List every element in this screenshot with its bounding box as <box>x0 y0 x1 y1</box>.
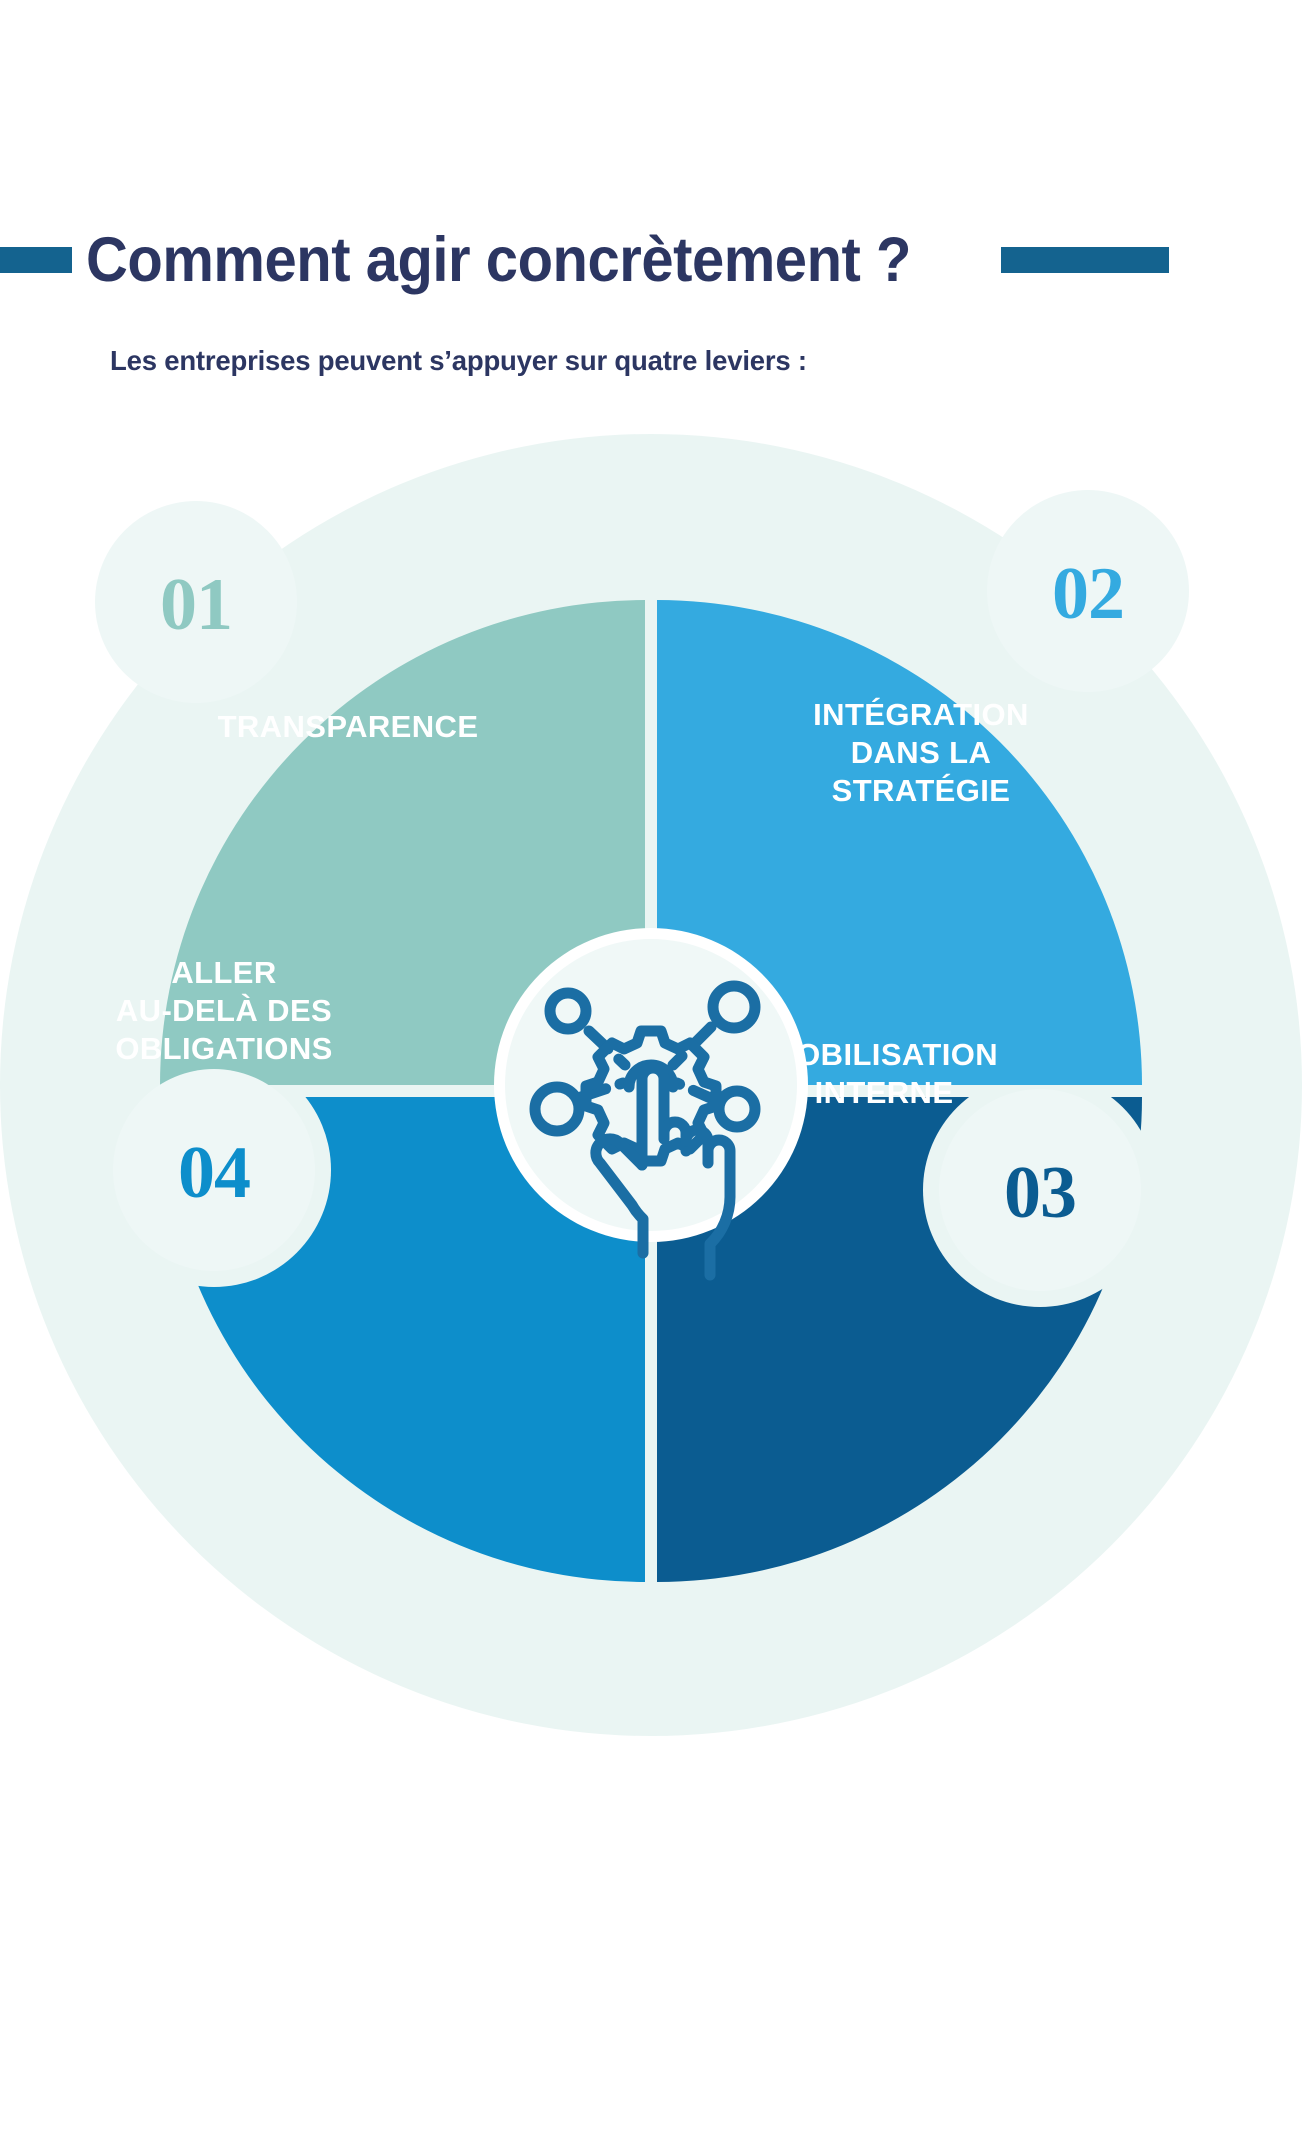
segment-02-label-line-2: STRATÉGIE <box>832 773 1011 808</box>
title-dash-left <box>0 247 72 273</box>
page-subtitle: Les entreprises peuvent s’appuyer sur qu… <box>110 345 807 377</box>
segment-02-label-line-1: DANS LA <box>851 735 992 770</box>
title-row: Comment agir concrètement ? <box>0 222 1302 298</box>
badge-01-number: 01 <box>160 564 232 646</box>
segment-04-label-line-0: ALLER <box>171 955 276 990</box>
badge-04-number: 04 <box>178 1132 250 1214</box>
badge-02-number: 02 <box>1052 553 1124 635</box>
page-header: Comment agir concrètement ? Les entrepri… <box>0 0 1302 420</box>
segment-04-label-line-2: OBLIGATIONS <box>115 1031 332 1066</box>
segment-01-label-line-0: TRANSPARENCE <box>218 709 479 744</box>
title-dash-right <box>1001 247 1169 273</box>
four-levers-diagram: 01 TRANSPARENCE 02 INTÉGRATION DANS LA S… <box>0 395 1302 1905</box>
page-title: Comment agir concrètement ? <box>86 229 911 292</box>
segment-02-label-line-0: INTÉGRATION <box>813 697 1029 732</box>
segment-03-label-line-1: INTERNE <box>815 1075 954 1110</box>
segment-04-label-line-1: AU-DELÀ DES <box>116 993 332 1028</box>
badge-03-number: 03 <box>1004 1152 1076 1234</box>
